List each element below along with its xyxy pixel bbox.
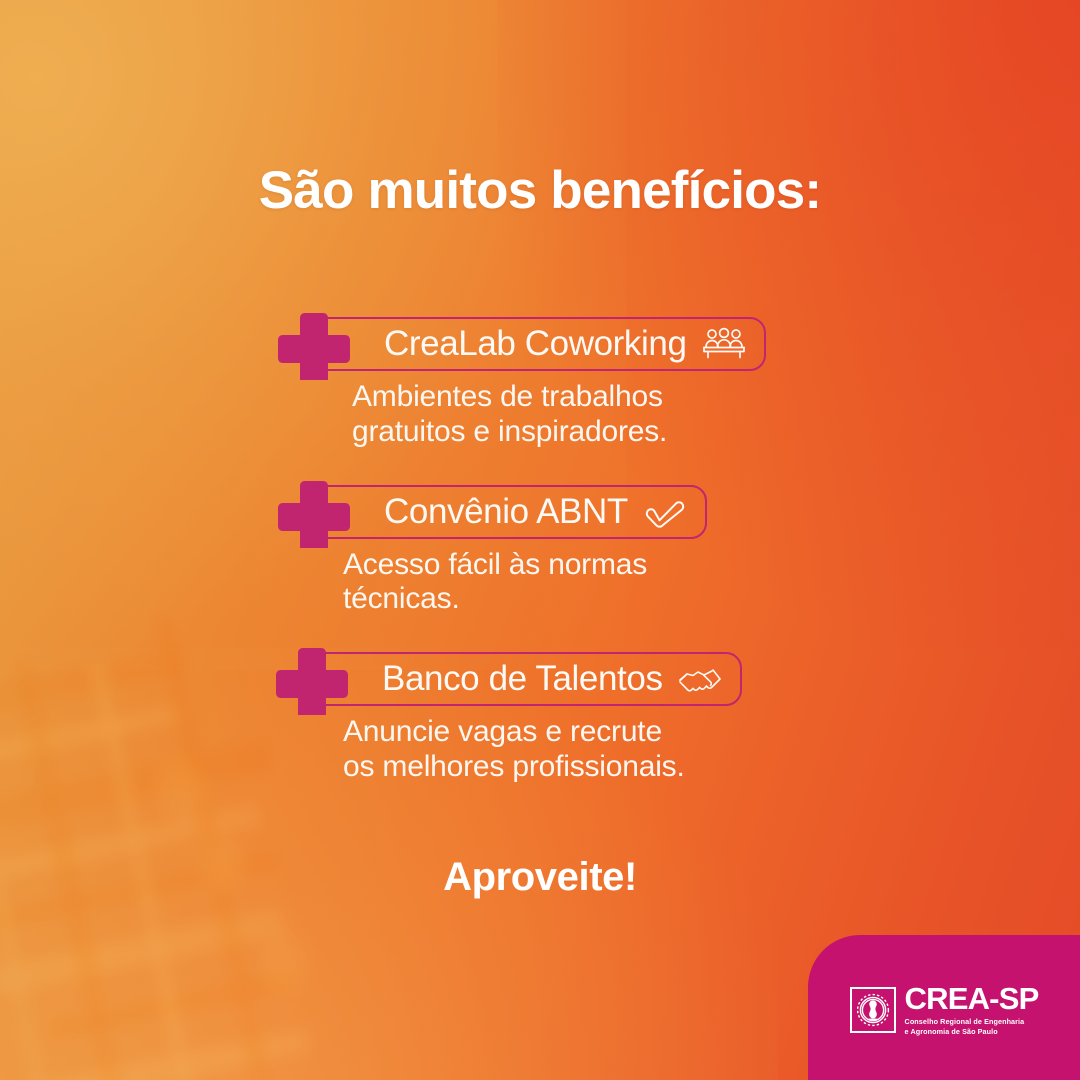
page-title: São muitos benefícios: xyxy=(0,163,1080,219)
benefit-item: CreaLab Coworking xyxy=(0,316,1080,450)
plus-marker-icon xyxy=(278,476,350,548)
plus-marker-icon xyxy=(278,308,350,380)
logo-tagline: Conselho Regional de Engenharia e Agrono… xyxy=(905,1017,1039,1036)
crea-seal-icon xyxy=(850,987,896,1033)
call-to-action-text: Aproveite! xyxy=(0,855,1080,900)
benefit-pill[interactable]: CreaLab Coworking xyxy=(310,317,766,371)
logo-wordmark: CREA-SP xyxy=(905,983,1039,1014)
benefit-description: Anuncie vagas e recrute os melhores prof… xyxy=(0,715,1080,785)
benefit-item: Convênio ABNT Acesso fácil às normas téc… xyxy=(0,484,1080,618)
benefit-item: Banco de Talentos xyxy=(0,651,1080,785)
logo-tagline-line-2: e Agronomia de São Paulo xyxy=(905,1027,1039,1037)
benefit-title: Convênio ABNT xyxy=(384,492,628,532)
benefit-title: CreaLab Coworking xyxy=(384,324,687,364)
benefit-title-row: Banco de Talentos xyxy=(0,651,1080,707)
people-table-icon xyxy=(701,326,747,362)
benefit-description: Ambientes de trabalhos gratuitos e inspi… xyxy=(0,380,1080,450)
handshake-icon xyxy=(677,661,723,697)
logo-text-block: CREA-SP Conselho Regional de Engenharia … xyxy=(905,983,1039,1036)
benefit-description: Acesso fácil às normas técnicas. xyxy=(0,548,1080,618)
benefit-title-row: CreaLab Coworking xyxy=(0,316,1080,372)
promo-card: São muitos benefícios: CreaLab Coworking xyxy=(0,0,1080,1080)
check-icon xyxy=(642,494,688,530)
benefit-title: Banco de Talentos xyxy=(382,659,663,699)
logo-tagline-line-1: Conselho Regional de Engenharia xyxy=(905,1017,1039,1027)
footer-logo-panel: CREA-SP Conselho Regional de Engenharia … xyxy=(808,935,1080,1080)
benefit-pill[interactable]: Banco de Talentos xyxy=(308,652,742,706)
benefit-title-row: Convênio ABNT xyxy=(0,484,1080,540)
benefits-list: CreaLab Coworking xyxy=(0,316,1080,785)
crea-sp-logo: CREA-SP Conselho Regional de Engenharia … xyxy=(850,983,1039,1036)
plus-marker-icon xyxy=(276,643,348,715)
benefit-pill[interactable]: Convênio ABNT xyxy=(310,485,707,539)
